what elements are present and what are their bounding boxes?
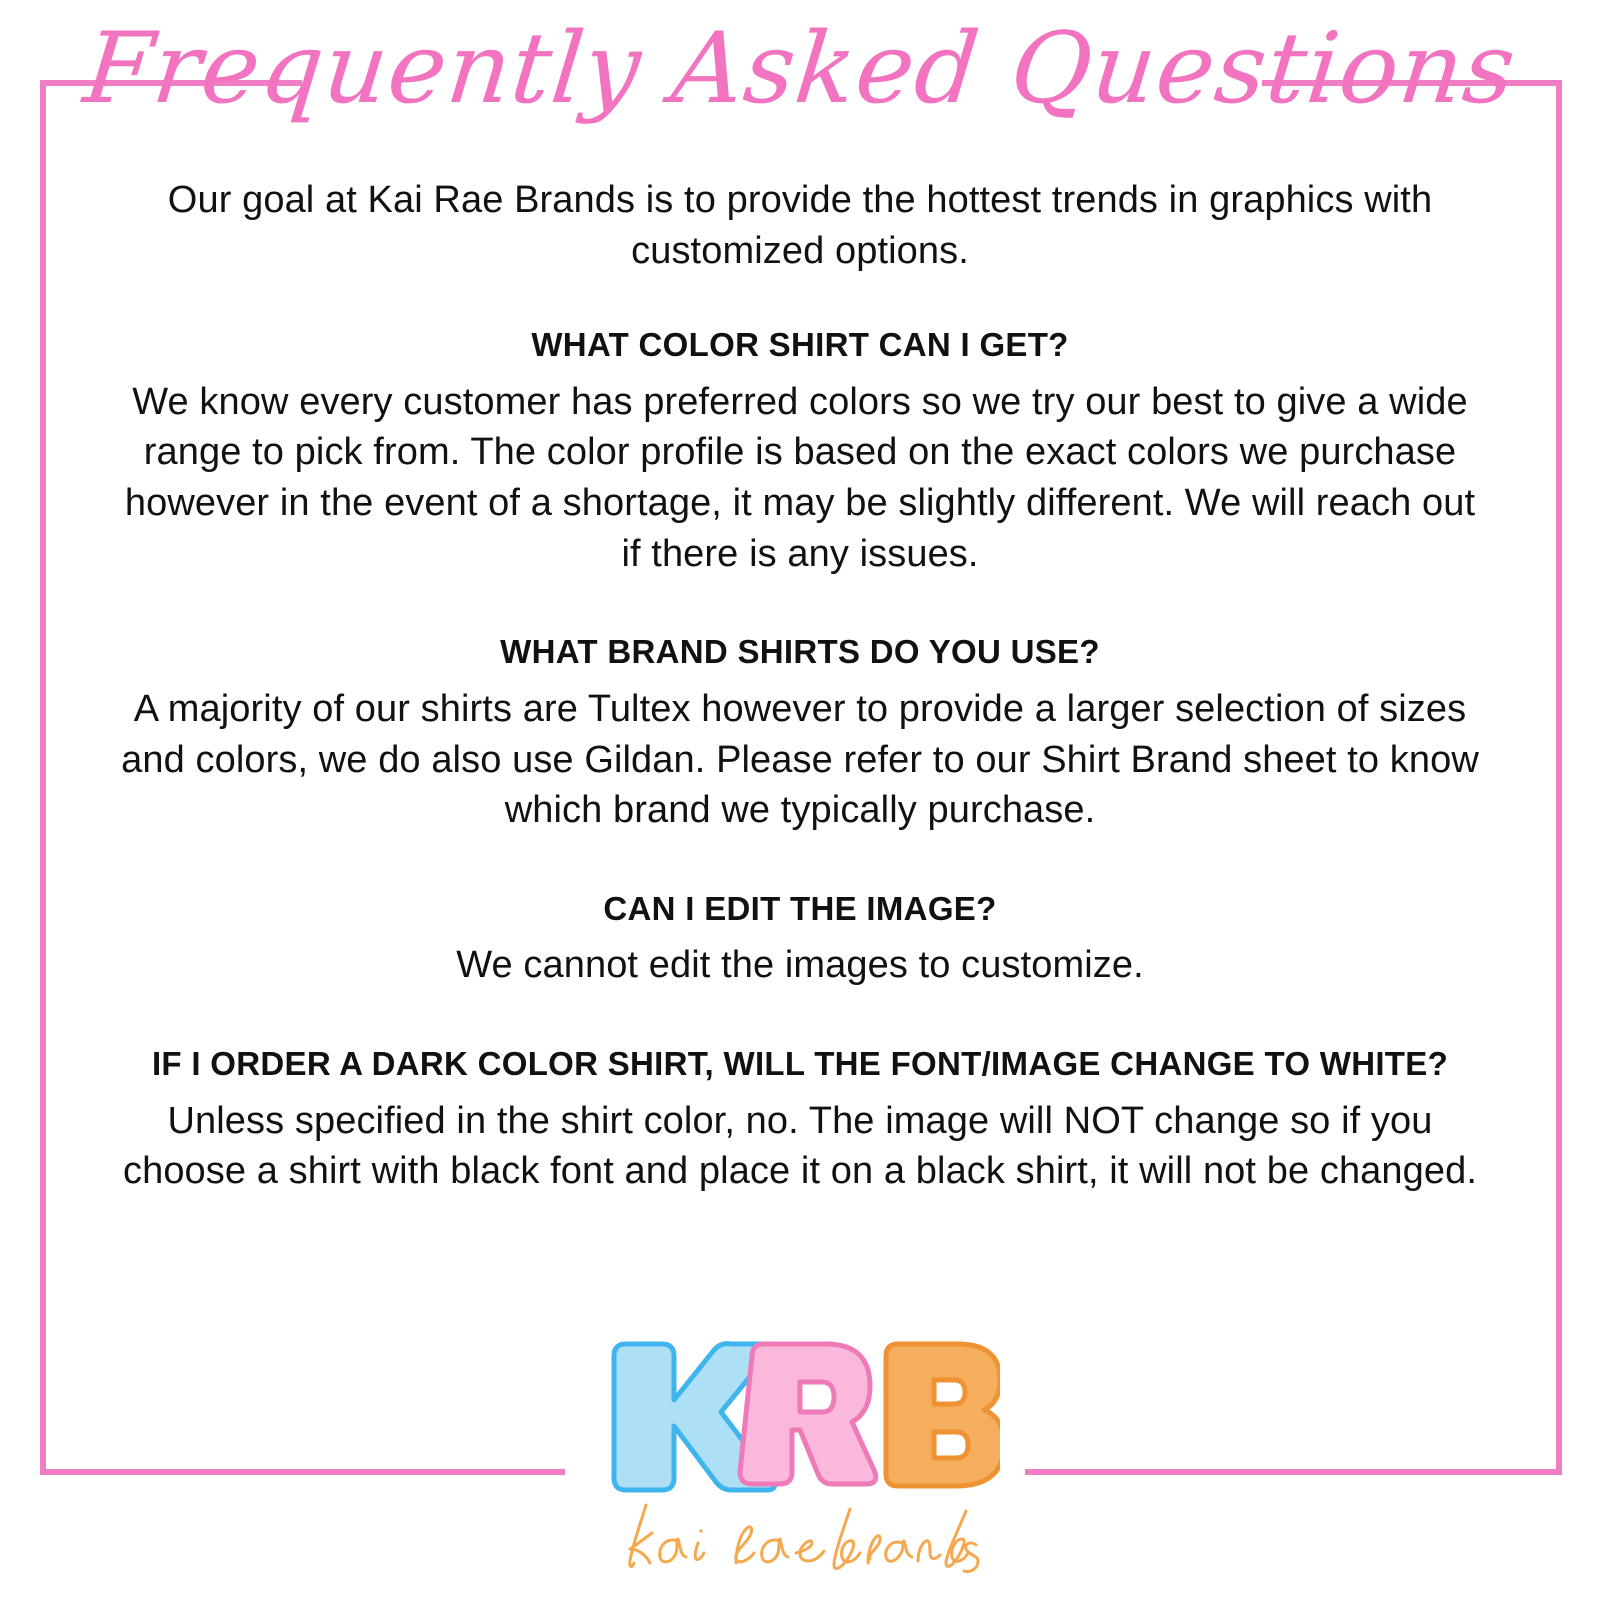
faq-answer-2: A majority of our shirts are Tultex howe… [110,684,1490,836]
faq-answer-3: We cannot edit the images to customize. [110,940,1490,991]
faq-question-2: WHAT BRAND SHIRTS DO YOU USE? [110,631,1490,674]
faq-question-3: CAN I EDIT THE IMAGE? [110,888,1490,931]
faq-item-2: WHAT BRAND SHIRTS DO YOU USE? A majority… [110,631,1490,835]
frame-bottom-right-segment [1025,1469,1562,1475]
logo-letter-b [886,1344,1000,1486]
frame-bottom-left-segment [40,1469,565,1475]
faq-item-3: CAN I EDIT THE IMAGE? We cannot edit the… [110,888,1490,991]
faq-answer-4: Unless specified in the shirt color, no.… [110,1096,1490,1197]
frame-left-edge [40,80,46,1475]
brand-logo [600,1340,1000,1590]
faq-question-4: IF I ORDER A DARK COLOR SHIRT, WILL THE … [110,1043,1490,1086]
faq-question-1: WHAT COLOR SHIRT CAN I GET? [110,324,1490,367]
page-title: Frequently Asked Questions [0,18,1600,121]
faq-item-4: IF I ORDER A DARK COLOR SHIRT, WILL THE … [110,1043,1490,1197]
kai-rae-brands-wordmark-icon [600,1499,1000,1579]
krb-monogram-icon [600,1340,1000,1505]
faq-answer-1: We know every customer has preferred col… [110,377,1490,579]
logo-letter-r [740,1344,876,1484]
faq-content: Our goal at Kai Rae Brands is to provide… [110,175,1490,1197]
faq-item-1: WHAT COLOR SHIRT CAN I GET? We know ever… [110,324,1490,579]
intro-paragraph: Our goal at Kai Rae Brands is to provide… [110,175,1490,276]
faq-page: Frequently Asked Questions Our goal at K… [0,0,1600,1600]
frame-right-edge [1556,80,1562,1475]
